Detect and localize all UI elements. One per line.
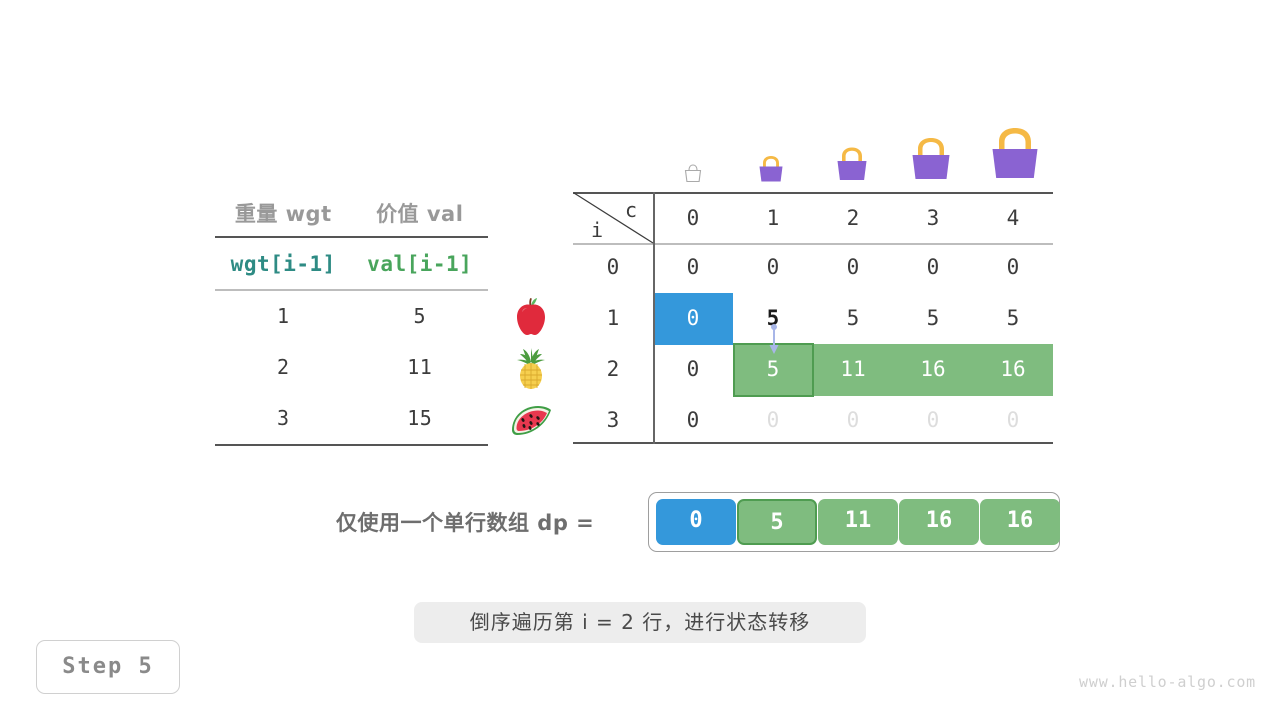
dp-cell-0-0: 0: [653, 242, 733, 293]
item-table-header-wgt: 重量 wgt: [215, 198, 352, 228]
item-table-row: 2 11: [215, 342, 488, 393]
dp-row-header-3: 3: [573, 395, 653, 446]
step-badge: Step 5: [36, 640, 180, 694]
item-table-header-row: 重量 wgt 价值 val: [215, 190, 488, 236]
dp-row-header-1: 1: [573, 293, 653, 344]
corner-label-i: i: [591, 218, 603, 242]
item-table-row: 3 15: [215, 393, 488, 444]
item-val-3: 15: [352, 406, 489, 430]
item-wgt-2: 2: [215, 355, 352, 379]
corner-label-c: c: [625, 198, 637, 222]
item-table-subheader-wgt: wgt[i-1]: [215, 252, 352, 276]
apple-icon: [508, 295, 554, 341]
corner-diagonal-line: [573, 192, 654, 244]
handbag-icon: [831, 144, 873, 190]
handbag-icon: [754, 152, 788, 190]
item-table-row: 1 5: [215, 291, 488, 342]
transition-arrow: [766, 324, 782, 356]
dp-cell-0-3: 0: [893, 242, 973, 293]
dp-col-header-0: 0: [653, 192, 733, 244]
item-table-header-val: 价值 val: [352, 198, 489, 228]
dp-col-header-4: 4: [973, 192, 1053, 244]
dp-array-label: 仅使用一个单行数组 dp =: [336, 507, 594, 537]
item-table-subheader-row: wgt[i-1] val[i-1]: [215, 238, 488, 289]
dp-row-header-0: 0: [573, 242, 653, 293]
dp-cell-3-2: 0: [813, 395, 893, 446]
dp-col-header-2: 2: [813, 192, 893, 244]
item-table-divider-bottom: [215, 444, 488, 446]
item-val-1: 5: [352, 304, 489, 328]
dp-cell-3-1: 0: [733, 395, 813, 446]
dp-cell-1-3: 5: [893, 293, 973, 344]
item-table-subheader-val: val[i-1]: [352, 252, 489, 276]
item-weight-value-table: 重量 wgt 价值 val wgt[i-1] val[i-1] 1 5 2 11…: [215, 190, 488, 446]
pineapple-icon: [508, 346, 554, 392]
dp-cell-1-4: 5: [973, 293, 1053, 344]
dp-cell-2-0: 0: [653, 344, 733, 395]
item-val-2: 11: [352, 355, 489, 379]
handbag-icon: [905, 134, 957, 190]
dp-array-cell-0: 0: [656, 499, 736, 545]
dp-cell-0-4: 0: [973, 242, 1053, 293]
dp-matrix-table: i c 0 1 2 3 4 0 1 2 3 0 0 0 0 0 0 5 5 5 …: [573, 192, 1053, 444]
handbag-icon: [681, 160, 705, 188]
watermelon-icon: [508, 397, 554, 443]
dp-cell-3-0: 0: [653, 395, 733, 446]
item-wgt-3: 3: [215, 406, 352, 430]
dp-cell-1-0: 0: [653, 293, 733, 344]
dp-array-cell-3: 16: [899, 499, 979, 545]
dp-cell-2-2: 11: [813, 344, 893, 395]
dp-cell-0-1: 0: [733, 242, 813, 293]
item-wgt-1: 1: [215, 304, 352, 328]
dp-cell-3-3: 0: [893, 395, 973, 446]
dp-col-header-1: 1: [733, 192, 813, 244]
dp-cell-2-4: 16: [973, 344, 1053, 395]
site-url: www.hello-algo.com: [1079, 673, 1256, 691]
dp-row-header-2: 2: [573, 344, 653, 395]
dp-cell-1-2: 5: [813, 293, 893, 344]
dp-array-container: 0 5 11 16 16: [648, 492, 1060, 552]
dp-array-cell-1: 5: [737, 499, 817, 545]
dp-cell-2-3: 16: [893, 344, 973, 395]
step-caption: 倒序遍历第 i = 2 行，进行状态转移: [414, 602, 866, 643]
dp-cell-3-4: 0: [973, 395, 1053, 446]
dp-array-cell-4: 16: [980, 499, 1060, 545]
dp-array-cell-2: 11: [818, 499, 898, 545]
dp-col-header-3: 3: [893, 192, 973, 244]
capacity-bag-row: [653, 122, 1053, 190]
handbag-icon: [984, 124, 1046, 190]
dp-cell-0-2: 0: [813, 242, 893, 293]
